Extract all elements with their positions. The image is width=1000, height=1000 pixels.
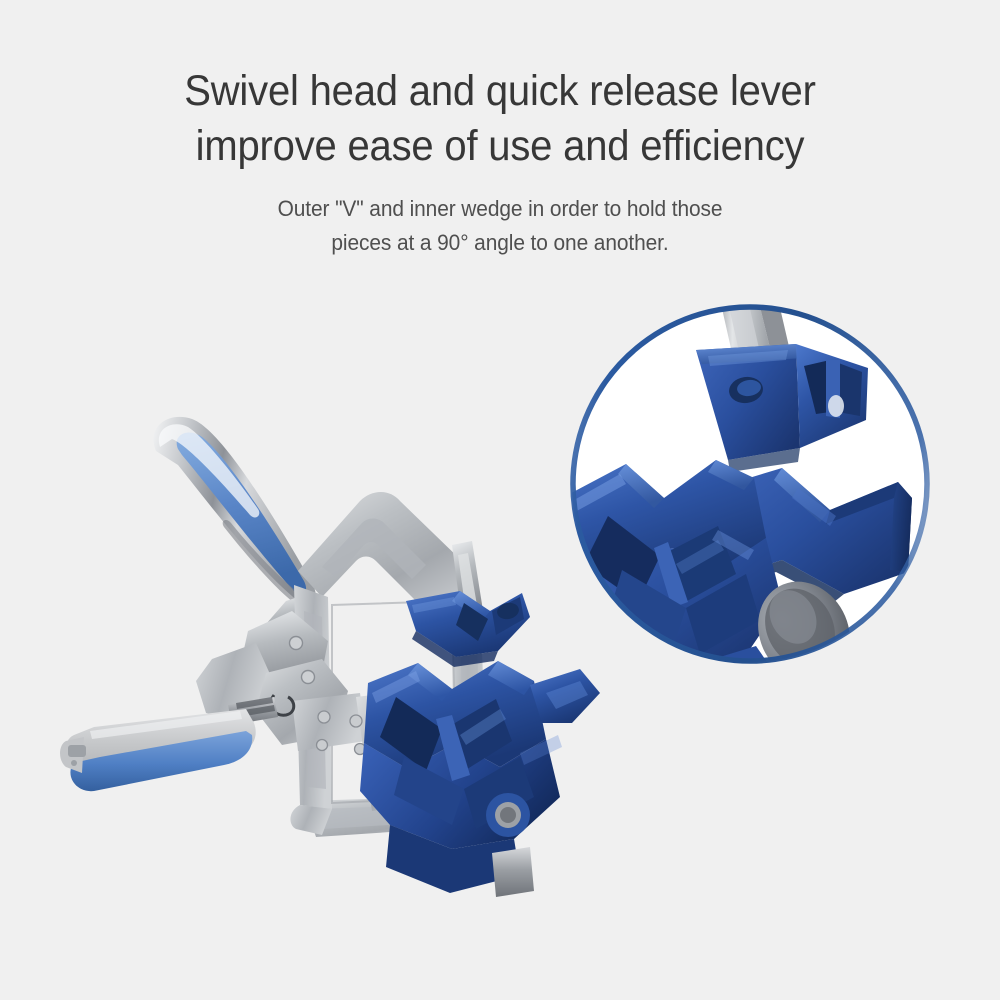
handle-grip xyxy=(60,697,278,791)
rivet xyxy=(302,671,315,684)
blue-v-jaw-assembly xyxy=(360,661,600,897)
rivet xyxy=(317,740,328,751)
page-title: Swivel head and quick release lever impr… xyxy=(147,64,854,174)
page-subtitle: Outer "V" and inner wedge in order to ho… xyxy=(168,192,833,260)
text-block: Swivel head and quick release lever impr… xyxy=(0,64,1000,260)
rivet xyxy=(290,637,303,650)
rivet xyxy=(318,711,330,723)
detail-zoom-circle xyxy=(568,302,932,666)
rivet xyxy=(350,715,362,727)
product-feature-banner: Swivel head and quick release lever impr… xyxy=(0,0,1000,1000)
product-photo xyxy=(60,405,620,915)
